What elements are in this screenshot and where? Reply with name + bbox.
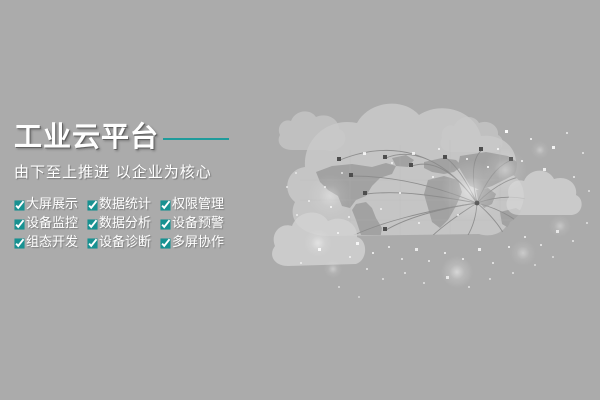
subtitle: 由下至上推进 以企业为核心	[14, 163, 274, 182]
list-item-label: 多屏协作	[172, 235, 224, 251]
cloud-main	[287, 104, 524, 236]
check-square-icon	[160, 219, 171, 230]
list-item: 设备诊断	[87, 235, 151, 251]
list-item-label: 设备诊断	[99, 235, 151, 251]
connection-arcs	[340, 150, 530, 244]
map-graticule	[300, 140, 540, 245]
check-square-icon	[87, 200, 98, 211]
feature-list: 大屏展示 数据统计 权限管理	[14, 197, 274, 251]
world-map-network	[300, 140, 542, 248]
check-square-icon	[14, 238, 25, 249]
list-item: 组态开发	[14, 235, 78, 251]
network-hub	[475, 201, 480, 206]
glow-blooms	[304, 141, 571, 288]
cloud-small-upper-right	[440, 117, 502, 152]
industrial-cloud-platform-banner: 工业云平台 由下至上推进 以企业为核心 大屏展示	[0, 0, 600, 400]
check-square-icon	[160, 200, 171, 211]
network-nodes	[337, 147, 531, 245]
list-item: 多屏协作	[160, 235, 224, 251]
check-square-icon	[160, 238, 171, 249]
list-item-label: 设备监控	[26, 216, 78, 232]
cloud-lower-left	[272, 212, 365, 266]
check-square-icon	[14, 219, 25, 230]
list-item-label: 数据统计	[99, 197, 151, 213]
list-item-label: 权限管理	[172, 197, 224, 213]
list-item: 权限管理	[160, 197, 224, 213]
title-underline-rule	[163, 138, 229, 140]
banner-copy: 工业云平台 由下至上推进 以企业为核心 大屏展示	[14, 120, 274, 251]
list-item: 数据分析	[87, 216, 151, 232]
title-row: 工业云平台	[14, 120, 274, 154]
check-square-icon	[87, 238, 98, 249]
cloud-small-upper-left	[279, 111, 346, 151]
list-item: 大屏展示	[14, 197, 78, 213]
list-item: 设备监控	[14, 216, 78, 232]
check-square-icon	[14, 200, 25, 211]
list-item: 数据统计	[87, 197, 151, 213]
sparkle-dots	[286, 130, 590, 298]
list-item-label: 大屏展示	[26, 197, 78, 213]
list-item-label: 组态开发	[26, 235, 78, 251]
list-item-label: 设备预警	[172, 216, 224, 232]
check-square-icon	[87, 219, 98, 230]
page-title: 工业云平台	[14, 121, 159, 153]
world-map-continents	[316, 152, 542, 248]
list-item-label: 数据分析	[99, 216, 151, 232]
cloud-right	[506, 171, 581, 215]
list-item: 设备预警	[160, 216, 224, 232]
